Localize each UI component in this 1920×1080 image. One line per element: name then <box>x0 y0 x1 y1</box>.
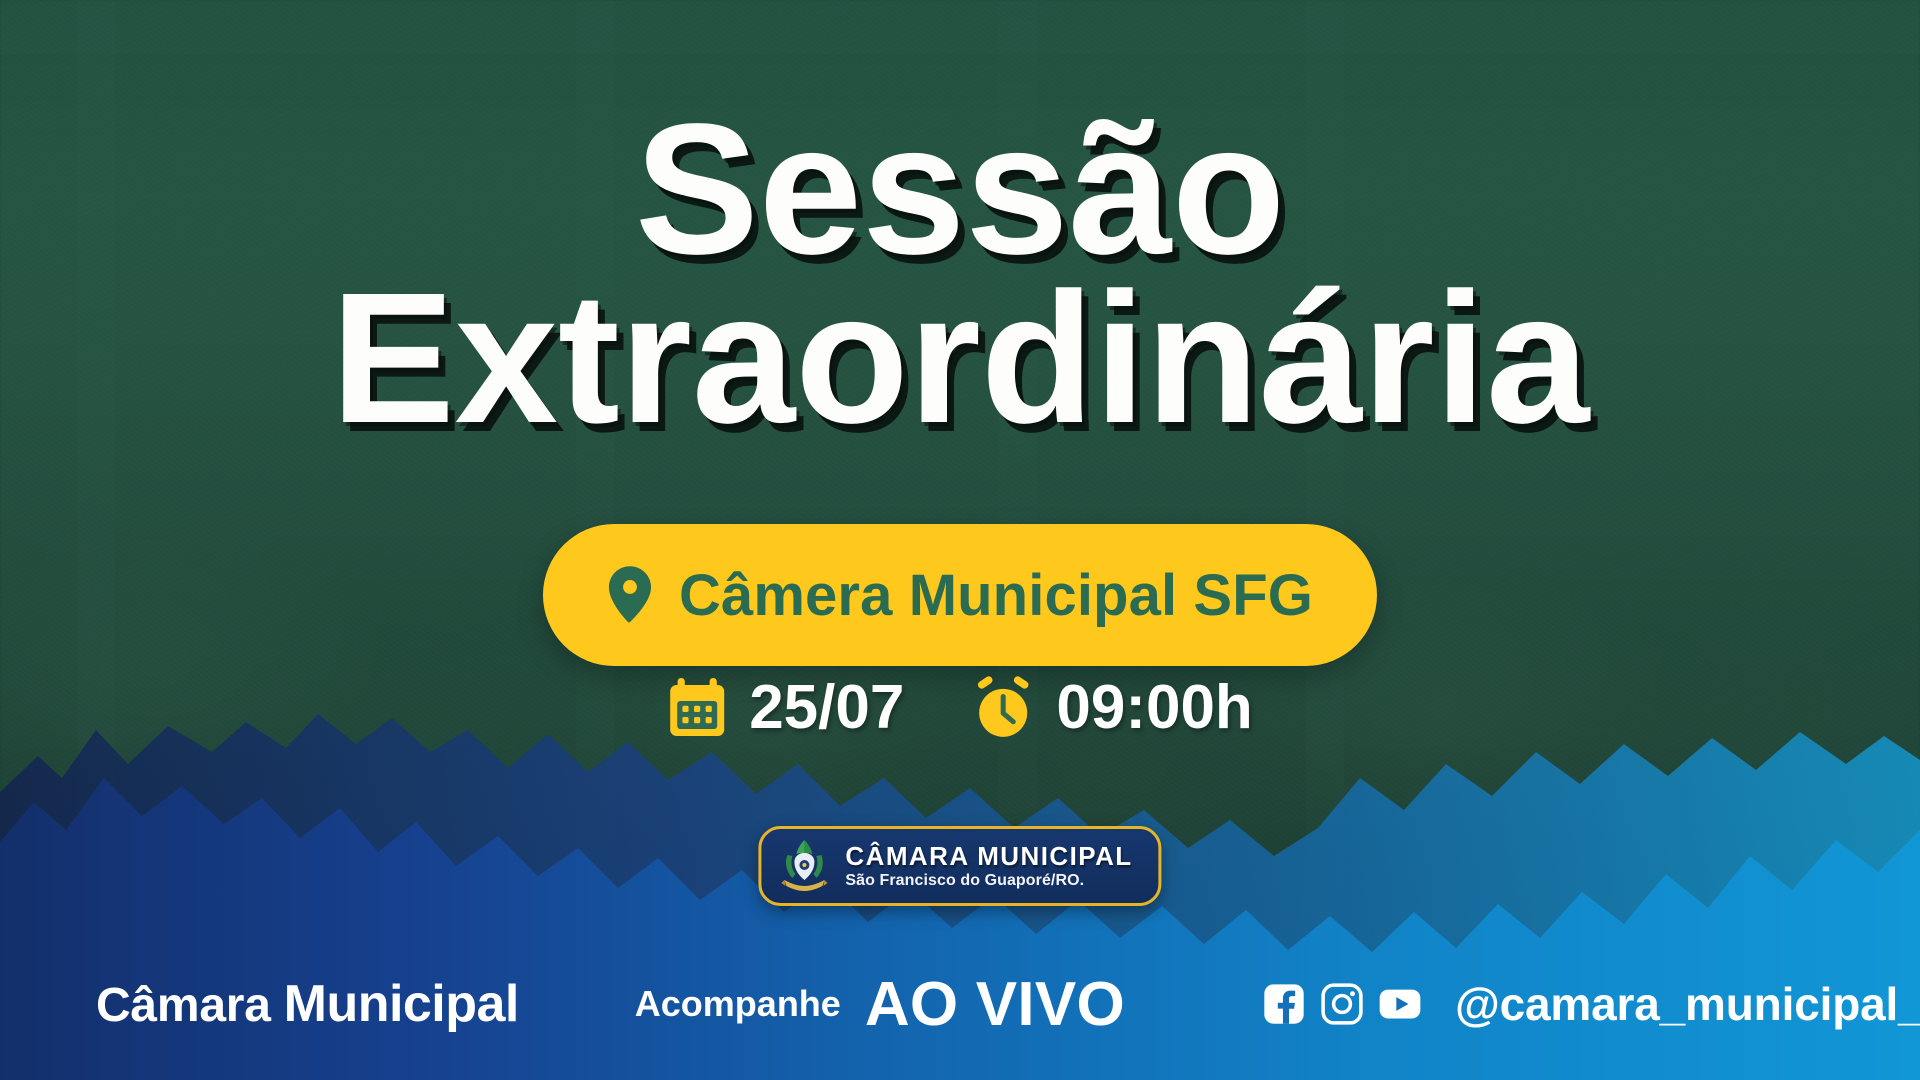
social-handle[interactable]: @camara_municipal_sfg <box>1455 977 1920 1031</box>
schedule-row: 25/07 09:00h <box>667 672 1253 743</box>
seal-title: CÂMARA MUNICIPAL <box>845 843 1132 869</box>
social-links: @camara_municipal_sfg <box>1263 977 1920 1031</box>
calendar-icon <box>667 677 727 739</box>
footer-bar: Câmara Municipal Acompanhe AO VIVO @cama… <box>0 928 1920 1080</box>
brand-word-municipal: Municipal <box>284 974 519 1034</box>
poster-title: Sessão Extraordinária <box>0 106 1920 443</box>
footer-brand: Câmara Municipal <box>96 974 519 1034</box>
session-time: 09:00h <box>1056 672 1252 743</box>
location-badge[interactable]: Câmera Municipal SFG <box>543 524 1377 666</box>
watch-live-group: Acompanhe AO VIVO <box>635 969 1125 1040</box>
map-pin-icon <box>607 566 653 624</box>
seal-text-block: CÂMARA MUNICIPAL São Francisco do Guapor… <box>845 843 1132 889</box>
council-seal-plaque: CÂMARA MUNICIPAL São Francisco do Guapor… <box>758 826 1161 906</box>
title-line-2: Extraordinária <box>0 275 1920 442</box>
brand-word-camara: Câmara <box>96 978 271 1033</box>
alarm-clock-icon <box>972 676 1034 740</box>
instagram-icon[interactable] <box>1321 983 1363 1025</box>
poster-canvas: Sessão Extraordinária Câmera Municipal S… <box>0 0 1920 1080</box>
location-badge-label: Câmera Municipal SFG <box>679 562 1313 629</box>
youtube-icon[interactable] <box>1379 983 1421 1025</box>
facebook-icon[interactable] <box>1263 983 1305 1025</box>
date-group: 25/07 <box>667 672 904 743</box>
session-date: 25/07 <box>749 672 904 743</box>
coat-of-arms-icon <box>775 835 833 897</box>
watch-prefix-label: Acompanhe <box>635 983 841 1025</box>
time-group: 09:00h <box>972 672 1252 743</box>
watch-live-label: AO VIVO <box>865 969 1125 1040</box>
seal-subtitle: São Francisco do Guaporé/RO. <box>845 873 1132 889</box>
title-line-1: Sessão <box>0 106 1920 273</box>
